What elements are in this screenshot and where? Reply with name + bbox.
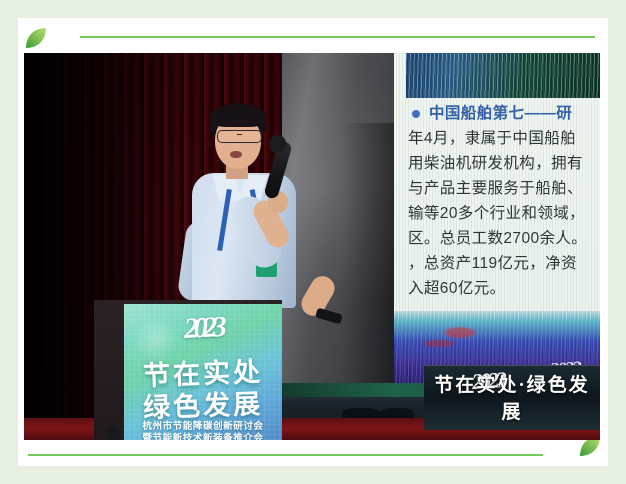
stage-backdrop-banner: 2023 节在实处·绿色发展 (424, 365, 600, 430)
speaker-mouth (230, 151, 242, 158)
podium-banner: 2023 节在实处 绿色发展 杭州市节能降碳创新研讨会 暨节能新技术新装备推介会 (124, 304, 282, 440)
top-divider-rule (80, 36, 595, 38)
bullet-icon (412, 110, 420, 118)
slide-line: 入超60亿元。 (398, 276, 600, 301)
page-frame: 中国船舶第七——研 年4月，隶属于中国船舶 用柴油机研发机构，拥有 与产品主要服… (0, 0, 626, 484)
slide-top-photo (406, 53, 600, 98)
slide-line: 输等20多个行业和领域， (398, 201, 600, 226)
podium-subtitle-line-2: 暨节能新技术新装备推介会 (124, 430, 282, 440)
slide-line: ，总资产119亿元，净资 (398, 251, 600, 276)
slide-text-block: 中国船舶第七——研 年4月，隶属于中国船舶 用柴油机研发机构，拥有 与产品主要服… (398, 101, 600, 301)
gooseneck-microphone-head (105, 425, 121, 440)
podium: 2023 节在实处 绿色发展 杭州市节能降碳创新研讨会 暨节能新技术新装备推介会 (94, 300, 282, 440)
bottom-divider-rule (28, 454, 543, 456)
podium-year-mark: 2023 (124, 308, 282, 349)
eyeglasses-icon (217, 130, 262, 143)
slide-line: 与产品主要服务于船舶、 (398, 176, 600, 201)
slide-line: 区。总员工数2700余人。 (398, 226, 600, 251)
column-shadow (342, 123, 402, 383)
slide-heading-text: 中国船舶第七——研 (429, 101, 572, 126)
slide-line: 用柴油机研发机构，拥有 (398, 151, 600, 176)
projection-screen: 中国船舶第七——研 年4月，隶属于中国船舶 用柴油机研发机构，拥有 与产品主要服… (394, 53, 600, 383)
stage-banner-slogan: 节在实处·绿色发展 (424, 370, 600, 424)
conference-photo: 中国船舶第七——研 年4月，隶属于中国船舶 用柴油机研发机构，拥有 与产品主要服… (24, 53, 600, 440)
slide-heading: 中国船舶第七——研 (398, 101, 600, 126)
slide-line: 年4月，隶属于中国船舶 (398, 126, 600, 151)
speaker-fringe (210, 105, 266, 127)
